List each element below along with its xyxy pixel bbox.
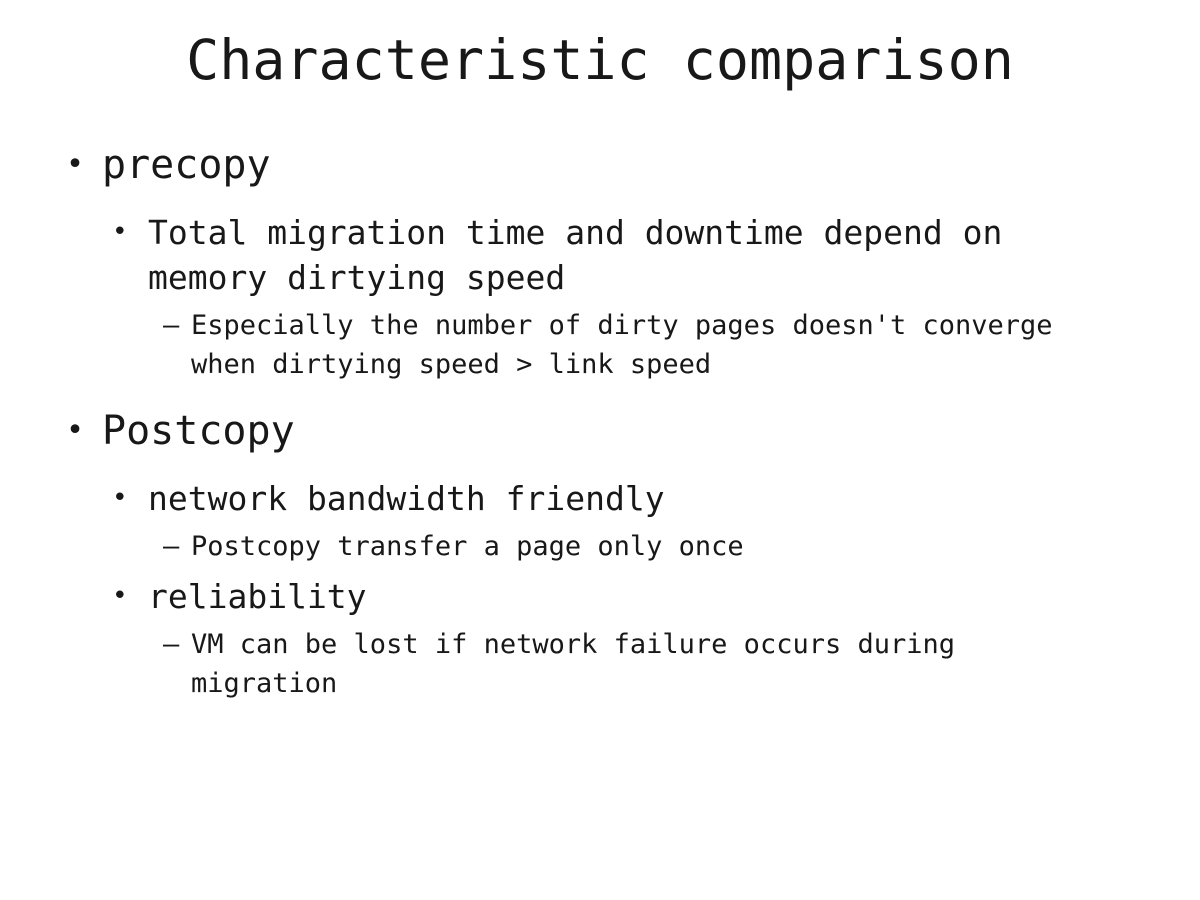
outline-item-text: precopy <box>102 140 1162 190</box>
outline-item-text: Especially the number of dirty pages doe… <box>191 306 1116 384</box>
outline-spacer <box>0 386 1200 406</box>
outline-item-postcopy-transfer-once[interactable]: – Postcopy transfer a page only once <box>0 527 1200 566</box>
outline-item-especially-dirty-pages[interactable]: – Especially the number of dirty pages d… <box>0 306 1200 384</box>
outline-spacer <box>0 458 1200 468</box>
bullet-dash-icon: – <box>163 625 191 664</box>
outline-item-reliability[interactable]: • reliability <box>0 574 1200 619</box>
outline-item-text: VM can be lost if network failure occurs… <box>191 625 1116 703</box>
slide-outline-body: • precopy • Total migration time and dow… <box>0 140 1200 705</box>
outline-item-text: Postcopy transfer a page only once <box>191 527 1116 566</box>
outline-item-precopy[interactable]: • precopy <box>0 140 1200 190</box>
outline-item-network-bandwidth-friendly[interactable]: • network bandwidth friendly <box>0 476 1200 521</box>
outline-item-vm-can-be-lost[interactable]: – VM can be lost if network failure occu… <box>0 625 1200 703</box>
bullet-dot-icon: • <box>112 210 148 255</box>
bullet-dot-icon: • <box>112 574 148 619</box>
outline-item-text: reliability <box>148 574 1103 619</box>
outline-item-total-migration-time[interactable]: • Total migration time and downtime depe… <box>0 210 1200 300</box>
bullet-dash-icon: – <box>163 306 191 345</box>
outline-item-text: Total migration time and downtime depend… <box>148 210 1103 300</box>
slide-title: Characteristic comparison <box>0 28 1200 92</box>
presentation-slide: Characteristic comparison • precopy • To… <box>0 0 1200 900</box>
outline-spacer <box>0 192 1200 202</box>
bullet-dot-icon: • <box>66 140 102 190</box>
outline-item-text: network bandwidth friendly <box>148 476 1103 521</box>
bullet-dot-icon: • <box>66 406 102 456</box>
outline-item-text: Postcopy <box>102 406 1162 456</box>
outline-item-postcopy[interactable]: • Postcopy <box>0 406 1200 456</box>
bullet-dash-icon: – <box>163 527 191 566</box>
bullet-dot-icon: • <box>112 476 148 521</box>
